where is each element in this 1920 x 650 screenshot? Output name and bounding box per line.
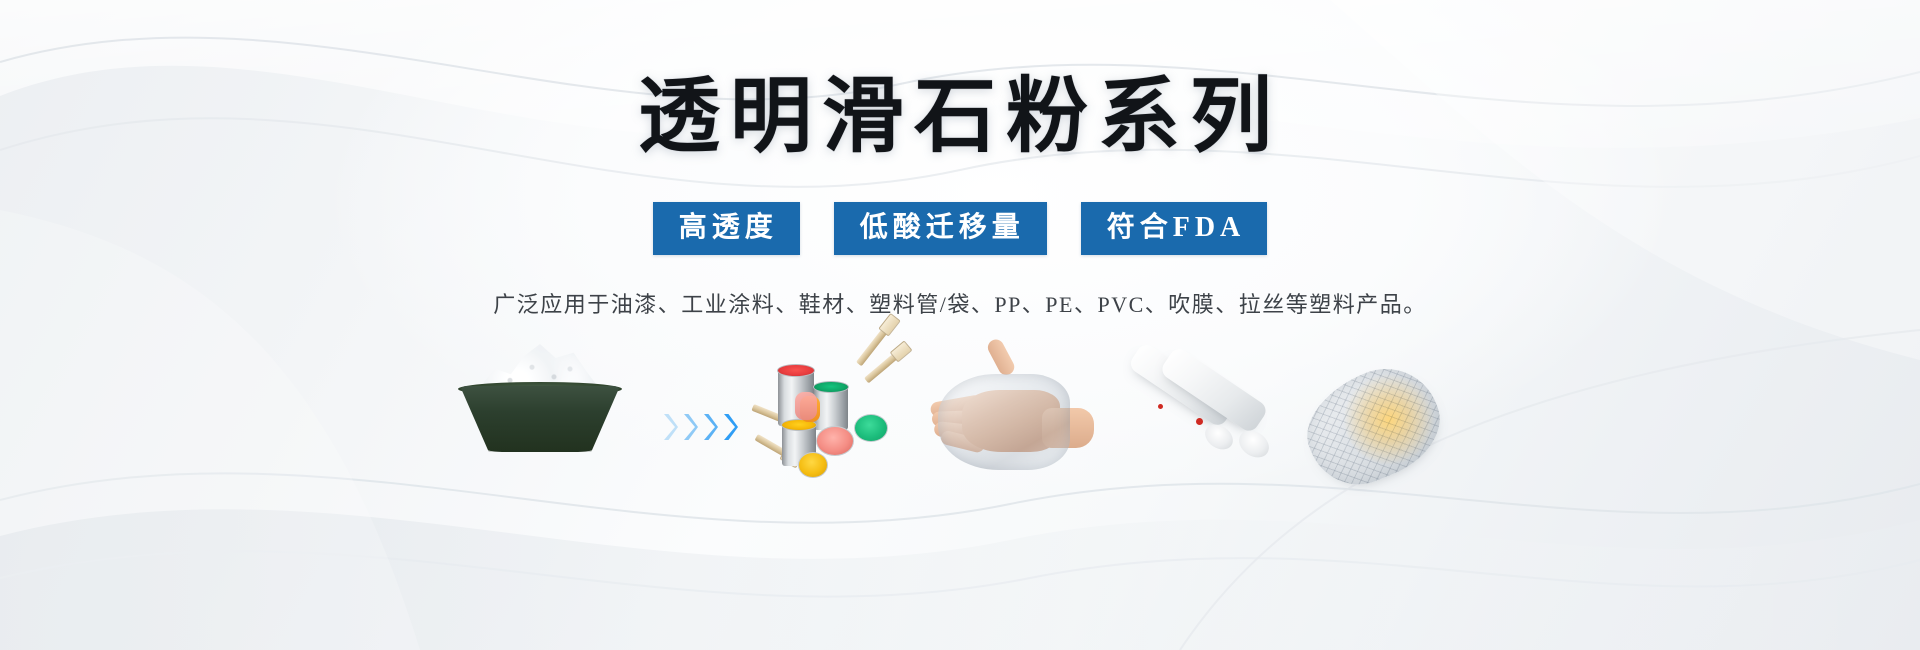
pigment-pink	[816, 426, 854, 456]
pigment-pink-upper	[795, 392, 817, 420]
paint-can-green-surface	[813, 381, 849, 393]
talc-powder-bowl-image	[450, 352, 640, 502]
paint-can-red-surface	[777, 364, 815, 377]
pigment-yellow	[798, 452, 828, 478]
application-description: 广泛应用于油漆、工业涂料、鞋材、塑料管/袋、PP、PE、PVC、吹膜、拉丝等塑料…	[493, 287, 1427, 319]
banner-content: 透明滑石粉系列 高透度 低酸迁移量 符合FDA 广泛应用于油漆、工业涂料、鞋材、…	[0, 0, 1920, 650]
application-illustration-strip	[0, 352, 1920, 502]
chevron-right-icon-1	[662, 412, 679, 442]
film-roll-red-mark-2	[1158, 404, 1163, 409]
badge-fda-compliant: 符合FDA	[1081, 202, 1268, 255]
shoe-sole-image	[1280, 352, 1470, 502]
process-arrows-icon	[640, 352, 760, 502]
feature-badge-list: 高透度 低酸迁移量 符合FDA	[653, 202, 1268, 255]
page-title: 透明滑石粉系列	[638, 76, 1282, 158]
product-banner: 透明滑石粉系列 高透度 低酸迁移量 符合FDA 广泛应用于油漆、工业涂料、鞋材、…	[0, 0, 1920, 650]
plastic-film-rolls-image	[1110, 352, 1280, 502]
film-roll-red-mark	[1196, 418, 1203, 425]
plastic-glove-hand-image	[920, 352, 1110, 502]
film-roll-front-end	[1234, 425, 1274, 463]
badge-high-transparency: 高透度	[653, 202, 800, 255]
sole-mesh-texture	[1291, 353, 1454, 500]
paint-cans-image	[760, 352, 920, 502]
sole-body	[1291, 353, 1454, 500]
film-roll-back-end	[1200, 419, 1237, 454]
badge-low-acid-migration: 低酸迁移量	[834, 202, 1047, 255]
glove-film	[938, 374, 1070, 470]
pigment-green	[854, 414, 888, 442]
chevron-right-icon-3	[702, 412, 719, 442]
bowl-body	[460, 386, 620, 452]
chevron-right-icon-4	[722, 412, 739, 442]
chevron-right-icon-2	[682, 412, 699, 442]
